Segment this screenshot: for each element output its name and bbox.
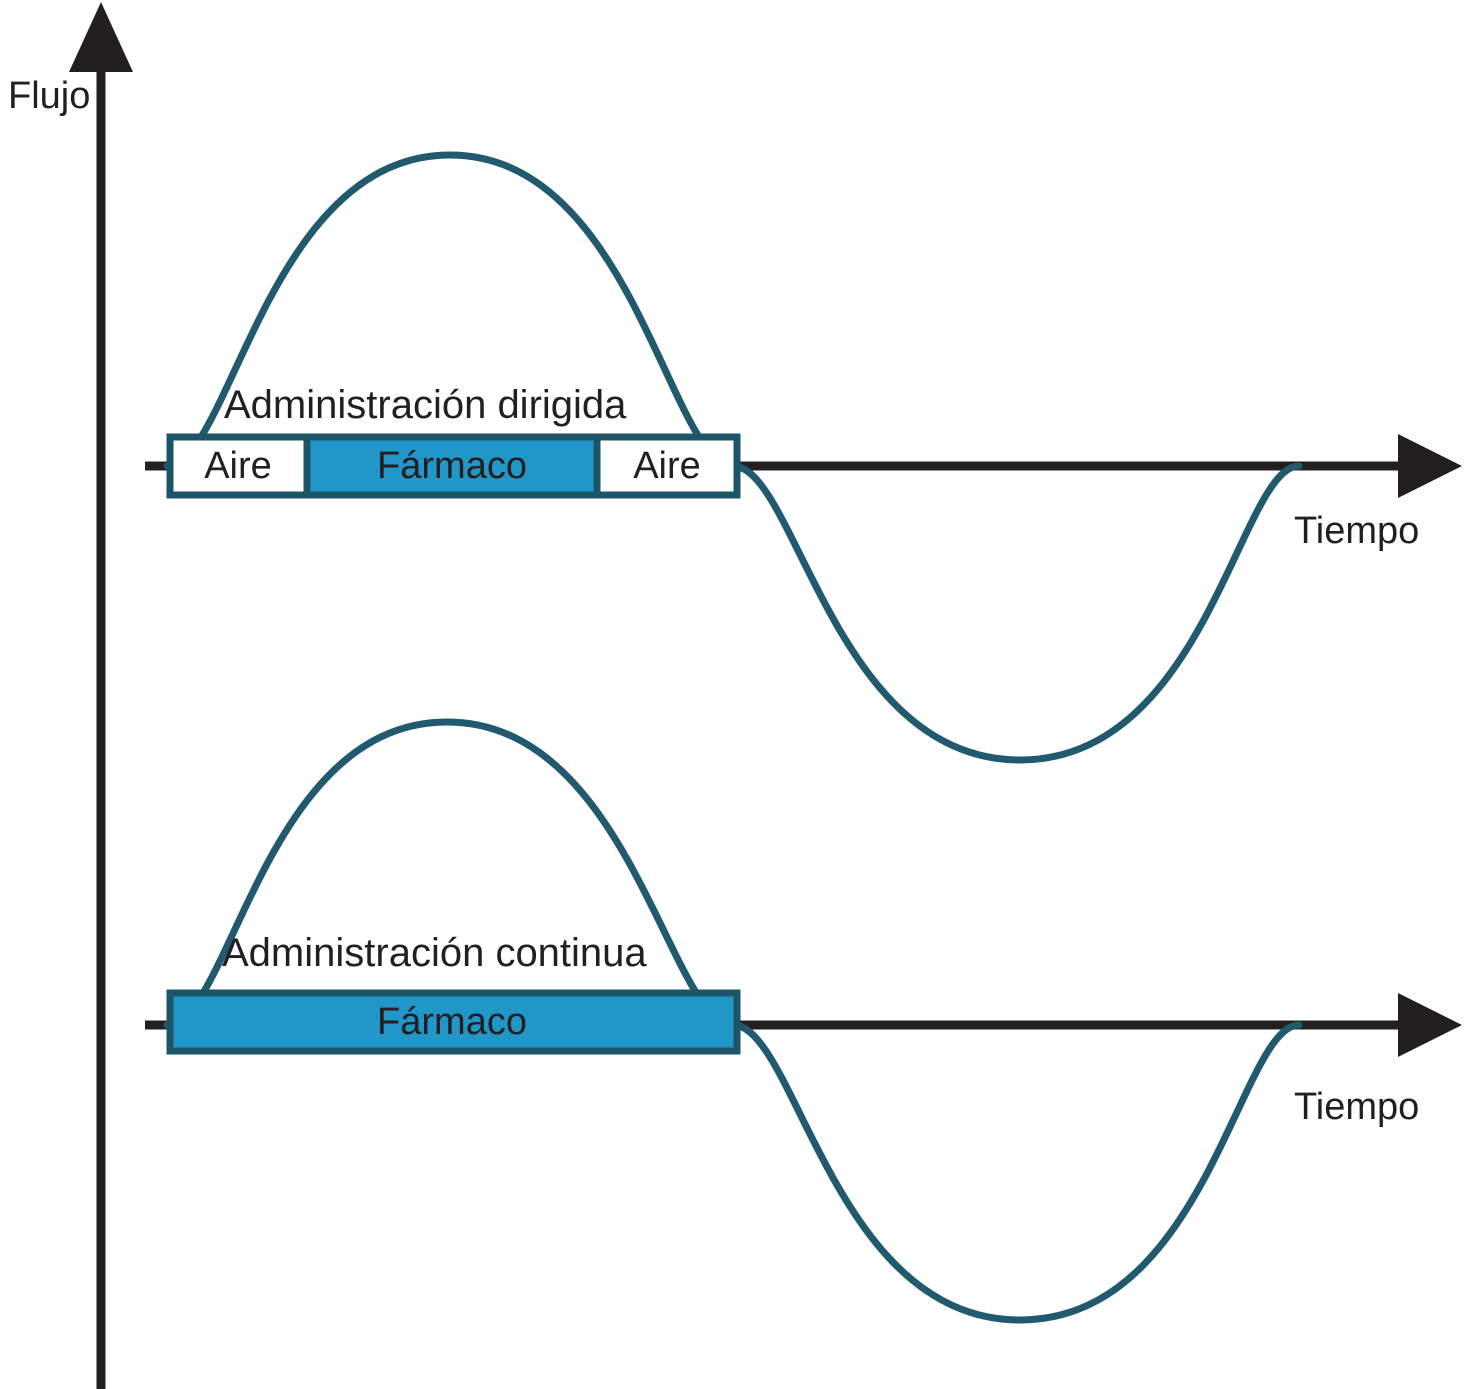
- bar-segment-aire-left[interactable]: [170, 437, 307, 495]
- delivery-bar-continuous[interactable]: [170, 993, 737, 1051]
- x-axis-arrowhead-1: [1398, 434, 1462, 498]
- y-axis-arrowhead: [69, 2, 133, 72]
- x-axis-arrowhead-2: [1398, 993, 1462, 1057]
- diagram-canvas: [0, 0, 1464, 1389]
- panel-caption-targeted: Administración dirigida: [224, 385, 626, 425]
- figure-root: Flujo Administración dirigida Aire Fárma…: [0, 0, 1464, 1389]
- bar-segment-farmaco[interactable]: [307, 437, 597, 495]
- y-axis-label: Flujo: [8, 77, 90, 115]
- panel-continuous-group: [145, 722, 1462, 1320]
- x-axis-label-continuous: Tiempo: [1294, 1088, 1419, 1126]
- panel-targeted-group: [145, 155, 1462, 760]
- y-axis-group: [69, 2, 133, 1389]
- bar-segment-aire-right[interactable]: [597, 437, 737, 495]
- x-axis-label-targeted: Tiempo: [1294, 512, 1419, 550]
- bar-segment-farmaco-full[interactable]: [170, 993, 737, 1051]
- delivery-bar-targeted[interactable]: [170, 437, 737, 495]
- panel-caption-continuous: Administración continua: [222, 933, 647, 973]
